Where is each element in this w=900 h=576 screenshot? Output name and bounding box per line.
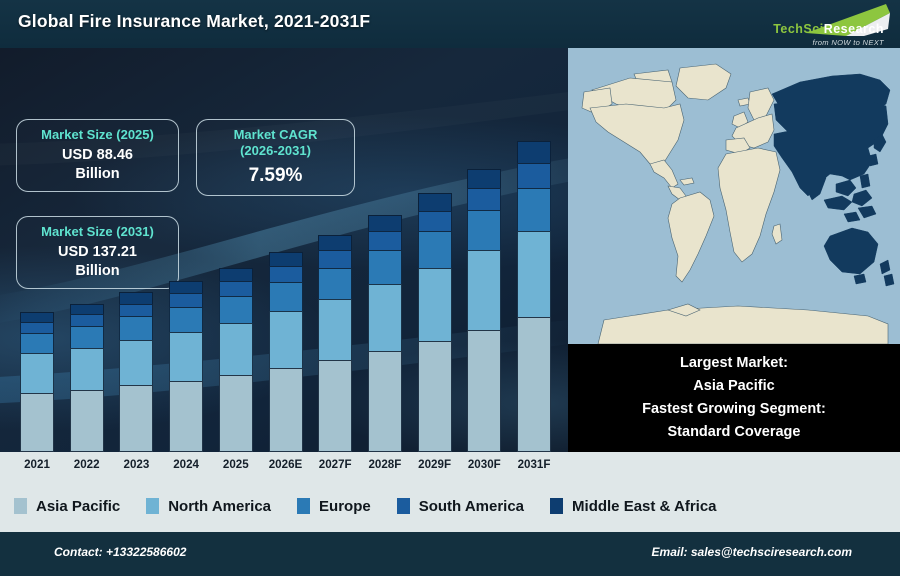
axis-label-2023: 2023 <box>123 458 149 471</box>
bar-segment-north-america <box>318 299 352 360</box>
bar-2021 <box>20 312 54 452</box>
bar-segment-asia-pacific <box>119 385 153 452</box>
bar-segment-europe <box>219 296 253 323</box>
bar-2031F <box>517 141 551 452</box>
axis-label-2029F: 2029F <box>418 458 451 471</box>
legend-label: South America <box>419 498 524 515</box>
footer-contact: Contact: +13322586602 <box>54 545 186 559</box>
bar-2030F <box>467 169 501 452</box>
legend-label: Asia Pacific <box>36 498 120 515</box>
bar-segment-north-america <box>70 348 104 390</box>
axis-label-2021: 2021 <box>24 458 50 471</box>
bar-segment-europe <box>517 188 551 232</box>
axis-label-2024: 2024 <box>173 458 199 471</box>
bar-segment-south-america <box>219 281 253 296</box>
axis-label-2028F: 2028F <box>368 458 401 471</box>
bar-segment-europe <box>20 333 54 353</box>
bar-segment-north-america <box>269 311 303 368</box>
footer-bar: Contact: +13322586602 Email: sales@techs… <box>0 532 900 576</box>
bar-segment-south-america <box>70 314 104 326</box>
bar-segment-asia-pacific <box>467 330 501 452</box>
bar-segment-europe <box>368 250 402 284</box>
bar-segment-middle-east-africa <box>219 268 253 281</box>
info-line-fastest-segment-label: Fastest Growing Segment: <box>642 398 826 421</box>
page-title: Global Fire Insurance Market, 2021-2031F <box>18 11 370 32</box>
bar-segment-middle-east-africa <box>269 252 303 266</box>
bar-segment-south-america <box>517 163 551 187</box>
x-axis: 202120222023202420252026E2027F2028F2029F… <box>0 452 568 480</box>
bar-segment-middle-east-africa <box>517 141 551 163</box>
chart-legend: Asia PacificNorth AmericaEuropeSouth Ame… <box>0 480 900 532</box>
bar-segment-south-america <box>269 266 303 282</box>
bar-segment-asia-pacific <box>269 368 303 452</box>
bar-segment-asia-pacific <box>418 341 452 452</box>
legend-swatch-icon <box>297 498 310 514</box>
bar-segment-north-america <box>368 284 402 351</box>
info-line-fastest-segment-value: Standard Coverage <box>668 421 801 444</box>
axis-label-2031F: 2031F <box>518 458 551 471</box>
bar-segment-europe <box>119 316 153 339</box>
bar-segment-asia-pacific <box>20 393 54 452</box>
bar-segment-south-america <box>318 250 352 267</box>
bar-segment-middle-east-africa <box>318 235 352 250</box>
world-map <box>568 48 900 344</box>
bar-2026E <box>269 252 303 452</box>
bar-segment-middle-east-africa <box>467 169 501 188</box>
bar-segment-asia-pacific <box>219 375 253 452</box>
legend-item-europe[interactable]: Europe <box>297 498 371 515</box>
bar-segment-europe <box>269 282 303 311</box>
bar-2027F <box>318 235 352 452</box>
axis-label-2025: 2025 <box>223 458 249 471</box>
axis-label-2030F: 2030F <box>468 458 501 471</box>
axis-label-2026E: 2026E <box>269 458 303 471</box>
bar-segment-south-america <box>169 293 203 307</box>
bar-segment-europe <box>418 231 452 268</box>
legend-item-asia-pacific[interactable]: Asia Pacific <box>14 498 120 515</box>
bar-segment-north-america <box>169 332 203 381</box>
info-box: Largest Market: Asia Pacific Fastest Gro… <box>568 344 900 452</box>
legend-swatch-icon <box>146 498 159 514</box>
bar-segment-north-america <box>20 353 54 393</box>
bar-segment-middle-east-africa <box>70 304 104 315</box>
info-line-largest-market-label: Largest Market: <box>680 352 788 375</box>
infographic-page: Global Fire Insurance Market, 2021-2031F… <box>0 0 900 576</box>
bar-segment-asia-pacific <box>318 360 352 452</box>
info-line-largest-market-value: Asia Pacific <box>693 375 774 398</box>
bar-segment-middle-east-africa <box>119 292 153 303</box>
bar-segment-asia-pacific <box>368 351 402 452</box>
bar-segment-south-america <box>467 188 501 210</box>
bar-segment-middle-east-africa <box>418 193 452 211</box>
bar-2028F <box>368 215 402 452</box>
logo-brand-research: Research <box>824 22 884 36</box>
bar-segment-south-america <box>20 322 54 333</box>
header-bar: Global Fire Insurance Market, 2021-2031F… <box>0 0 900 48</box>
bar-2022 <box>70 304 104 452</box>
bar-segment-north-america <box>418 268 452 341</box>
bar-segment-europe <box>318 268 352 299</box>
bar-segment-europe <box>169 307 203 332</box>
bar-segment-europe <box>467 210 501 250</box>
bar-segment-asia-pacific <box>70 390 104 452</box>
logo-brand-tech: TechSci <box>773 22 824 36</box>
techsci-research-logo: TechSciResearch from NOW to NEXT <box>720 2 892 46</box>
legend-swatch-icon <box>550 498 563 514</box>
legend-label: North America <box>168 498 271 515</box>
world-map-svg <box>568 48 900 344</box>
legend-swatch-icon <box>14 498 27 514</box>
logo-tagline: from NOW to NEXT <box>773 39 884 47</box>
bar-segment-europe <box>70 326 104 348</box>
axis-label-2022: 2022 <box>74 458 100 471</box>
bar-segment-south-america <box>368 231 402 250</box>
bar-segment-south-america <box>418 211 452 231</box>
legend-label: Europe <box>319 498 371 515</box>
bar-segment-middle-east-africa <box>368 215 402 231</box>
footer-email: Email: sales@techsciresearch.com <box>652 545 852 559</box>
bar-segment-asia-pacific <box>169 381 203 452</box>
bar-segment-north-america <box>219 323 253 375</box>
bar-segment-south-america <box>119 304 153 317</box>
bar-2025 <box>219 268 253 452</box>
legend-item-north-america[interactable]: North America <box>146 498 271 515</box>
bar-segment-middle-east-africa <box>169 281 203 293</box>
axis-label-2027F: 2027F <box>319 458 352 471</box>
bar-2023 <box>119 292 153 452</box>
legend-item-middle-east-africa[interactable]: Middle East & Africa <box>550 498 716 515</box>
bar-segment-middle-east-africa <box>20 312 54 322</box>
stacked-bar-chart <box>0 48 568 452</box>
bar-segment-north-america <box>467 250 501 329</box>
bar-segment-asia-pacific <box>517 317 551 452</box>
bar-2024 <box>169 281 203 452</box>
bar-segment-north-america <box>517 231 551 317</box>
bar-segment-north-america <box>119 340 153 385</box>
legend-swatch-icon <box>397 498 410 514</box>
bar-2029F <box>418 193 452 452</box>
legend-label: Middle East & Africa <box>572 498 716 515</box>
legend-item-south-america[interactable]: South America <box>397 498 524 515</box>
